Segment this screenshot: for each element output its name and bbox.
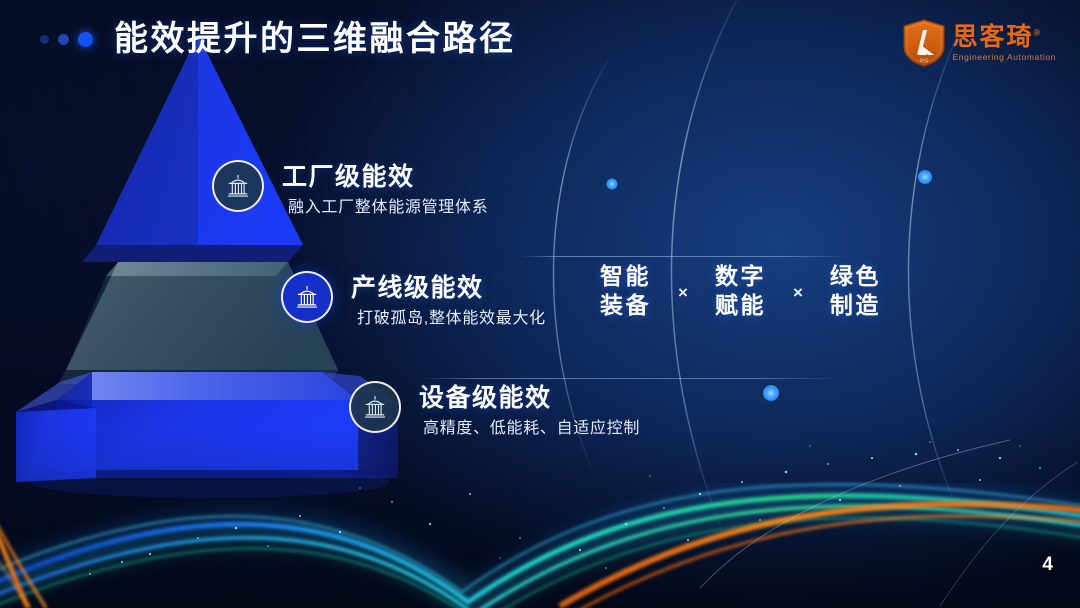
factory-building-icon: [349, 381, 401, 433]
formula-term-smart-equipment: 智能 装备: [600, 262, 651, 320]
formula-term-line2: 装备: [600, 291, 651, 320]
tier-subtext: 高精度、低能耗、自适应控制: [423, 419, 640, 438]
tier-heading: 产线级能效: [351, 274, 546, 302]
slide-root: 能效提升的三维融合路径 SKQ 思客琦®: [0, 0, 1080, 608]
title-dots: [40, 32, 93, 47]
tier-heading: 工厂级能效: [282, 163, 488, 191]
multiply-operator-icon: ×: [766, 283, 830, 303]
title-dot-dim: [40, 35, 49, 44]
page-title: 能效提升的三维融合路径: [114, 22, 516, 56]
decorative-light-ribbons: [0, 428, 1080, 608]
title-dot-bright: [78, 32, 93, 47]
formula-term-digital-empowerment: 数字 赋能: [715, 262, 766, 320]
logo-shield-icon: SKQ: [902, 19, 946, 67]
pyramid-graphic: [0, 0, 520, 520]
multiply-operator-icon: ×: [651, 283, 715, 303]
tier-text-block: 工厂级能效 融入工厂整体能源管理体系: [282, 160, 488, 217]
title-dot-mid: [58, 34, 69, 45]
company-logo: SKQ 思客琦® Engineering Automation: [902, 19, 1056, 67]
pyramid-tier-factory: 工厂级能效 融入工厂整体能源管理体系: [212, 160, 488, 217]
formula-row: 智能 装备 × 数字 赋能 × 绿色 制造: [600, 262, 881, 320]
page-number: 4: [1042, 554, 1054, 576]
pyramid-tier-production-line: 产线级能效 打破孤岛,整体能效最大化: [281, 271, 546, 328]
slide-header: 能效提升的三维融合路径: [40, 22, 516, 56]
logo-tagline: Engineering Automation: [953, 53, 1056, 62]
factory-building-icon: [281, 271, 333, 323]
formula-term-line2: 制造: [830, 291, 881, 320]
tier-text-block: 产线级能效 打破孤岛,整体能效最大化: [351, 271, 546, 328]
svg-text:SKQ: SKQ: [919, 58, 929, 63]
formula-term-line1: 智能: [600, 262, 651, 291]
tier-heading: 设备级能效: [419, 384, 640, 412]
arc-dot-3: [918, 170, 932, 184]
arc-dot-2: [763, 385, 779, 401]
tier-subtext: 融入工厂整体能源管理体系: [288, 198, 488, 217]
registered-mark-icon: ®: [1034, 27, 1043, 37]
formula-term-line2: 赋能: [715, 291, 766, 320]
formula-term-line1: 绿色: [830, 262, 881, 291]
tier-subtext: 打破孤岛,整体能效最大化: [357, 309, 546, 328]
arc-dot-1: [607, 179, 618, 190]
formula-term-green-manufacturing: 绿色 制造: [830, 262, 881, 320]
formula-term-line1: 数字: [715, 262, 766, 291]
logo-name-cn: 思客琦®: [953, 25, 1056, 50]
separator-line-1: [520, 256, 850, 257]
logo-wordmark: 思客琦® Engineering Automation: [953, 25, 1056, 62]
tier-text-block: 设备级能效 高精度、低能耗、自适应控制: [419, 381, 640, 438]
pyramid-tier-equipment: 设备级能效 高精度、低能耗、自适应控制: [349, 381, 640, 438]
factory-building-icon: [212, 160, 264, 212]
separator-line-2: [420, 378, 840, 379]
